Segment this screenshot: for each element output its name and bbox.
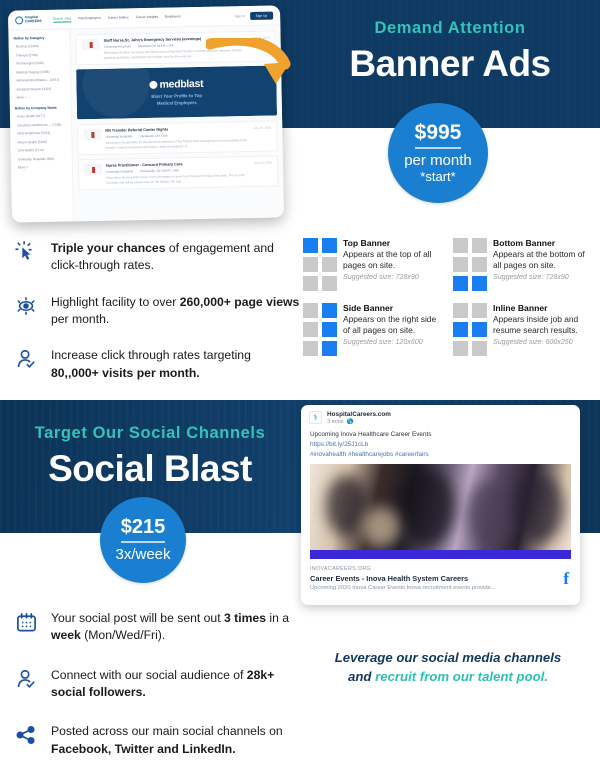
benefit-text-before: Increase click through rates targeting <box>51 348 251 362</box>
mock-facet-item[interactable]: Inova Health (9177) <box>17 114 66 119</box>
benefit-item: Highlight facility to over 260,000+ page… <box>14 294 300 329</box>
social-tagline: Leverage our social media channels and r… <box>305 648 591 686</box>
globe-icon: 🌎 <box>346 419 353 425</box>
mock-facet-item[interactable]: HCA Healthcare (5514) <box>17 131 66 136</box>
fb-post-header: ⚕ HospitalCareers.com 3 mins 🌎 <box>301 405 580 425</box>
banner-price-amount: $995 <box>415 121 462 149</box>
grid-cell <box>322 322 337 337</box>
calendar-icon <box>14 610 38 634</box>
mock-facet-item[interactable]: Technologist (1590) <box>16 61 65 66</box>
social-headline: Social Blast <box>48 448 252 490</box>
mock-facet-item[interactable]: LCA Health (7719) <box>18 148 67 153</box>
mock-facet-more[interactable]: More + <box>17 95 66 100</box>
social-price-frequency: 3x/week <box>115 547 170 564</box>
social-price-amount: $215 <box>121 516 166 543</box>
grid-cell <box>322 341 337 356</box>
mock-job-description: Description Responsible for the personne… <box>106 138 250 150</box>
benefit-bold-mid: Facebook, Twitter and LinkedIn. <box>51 742 236 756</box>
benefit-bold-mid: 3 times <box>224 611 266 625</box>
fb-copy-link[interactable]: https://bit.ly/25J1cLb <box>310 440 571 450</box>
grid-cell <box>453 303 468 318</box>
benefit-text: Posted across our main social channels o… <box>51 723 306 758</box>
mock-ad-brand-name: medblast <box>159 78 203 91</box>
mock-sidebar-heading-category: Refine by Category <box>13 36 64 41</box>
mock-nav-item-career-advice[interactable]: Career Advice <box>108 15 129 21</box>
mock-logo-line2: CAREERS <box>25 19 42 23</box>
tagline-highlight: recruit from our talent pool. <box>375 669 548 684</box>
mock-facet-item[interactable]: Medical Imaging (1598) <box>16 69 65 74</box>
banner-type-side: Side Banner Appears on the right side of… <box>303 303 445 356</box>
benefit-bold-mid: 260,000+ page views <box>180 295 300 309</box>
user-target-icon <box>14 667 38 690</box>
banner-type-size: Suggested size: 728x90 <box>343 273 445 281</box>
fb-link-description: Upcoming 2020 Inova Career Events Inova … <box>310 585 557 591</box>
grid-cell <box>303 257 318 272</box>
fb-post-copy: Upcoming Inova Healthcare Career Events … <box>301 425 580 464</box>
benefit-text-mid: in a <box>266 611 289 625</box>
banner-type-name: Bottom Banner <box>493 238 595 248</box>
fb-copy-headline: Upcoming Inova Healthcare Career Events <box>310 430 571 440</box>
benefit-item: Connect with our social audience of 28k+… <box>14 667 306 702</box>
banner-price-note: *start* <box>420 170 455 184</box>
benefit-text-before: Your social post will be sent out <box>51 611 224 625</box>
mock-sidebar: Refine by Category Nursing (12990) Thera… <box>8 29 74 222</box>
fb-link-title[interactable]: Career Events - Inova Health System Care… <box>310 574 557 583</box>
grid-cell <box>303 303 318 318</box>
grid-cell <box>303 276 318 291</box>
grid-cell <box>472 238 487 253</box>
banner-ads-section: Demand Attention Banner Ads $995 per mon… <box>0 0 600 400</box>
fb-copy-hashtags[interactable]: #inovahealth #healthcarejobs #careerfair… <box>310 450 571 460</box>
mock-job-date: July 20, 2020 <box>253 126 271 147</box>
hospitalcareers-avatar-icon: ⚕ <box>309 411 322 424</box>
banner-price-period: per month <box>404 153 472 170</box>
mock-facet-item[interactable]: Therapy (2796) <box>16 52 65 57</box>
mock-logo-icon <box>15 16 23 24</box>
share-nodes-icon <box>14 723 38 746</box>
tagline-line-1: Leverage our social media channels <box>305 648 591 667</box>
mock-job-description: Description Nursing that's best: You're … <box>106 173 250 185</box>
grid-cell <box>453 276 468 291</box>
benefit-item: Increase click through rates targeting 8… <box>14 347 300 382</box>
benefit-text: Connect with our social audience of 28k+… <box>51 667 306 702</box>
mock-nav-item-employers[interactable]: Employers <box>165 14 181 20</box>
banner-type-desc: Appears at the bottom of all pages on si… <box>493 249 595 271</box>
user-target-icon <box>14 347 38 370</box>
mock-facet-item[interactable]: Nursing (12990) <box>16 44 65 49</box>
benefit-text: Increase click through rates targeting 8… <box>51 347 300 382</box>
grid-cell <box>322 257 337 272</box>
banner-type-size: Suggested size: 120x600 <box>343 338 445 346</box>
grid-cell <box>453 238 468 253</box>
tagline-plain: and <box>348 669 375 684</box>
grid-cell <box>303 341 318 356</box>
benefit-bold-mid2: week <box>51 628 81 642</box>
mock-sign-in-link[interactable]: Sign In <box>234 14 244 18</box>
grid-cell <box>472 257 487 272</box>
banner-type-name: Side Banner <box>343 303 445 313</box>
benefit-text: Highlight facility to over 260,000+ page… <box>51 294 300 329</box>
fb-photo-bottom-bar <box>310 550 571 559</box>
mock-nav-item-find-employers[interactable]: Find Employers <box>78 15 101 21</box>
benefit-text-before: Highlight facility to over <box>51 295 180 309</box>
mock-job-location: Cleveland, OH, USA <box>140 134 168 139</box>
banner-type-desc: Appears on the right side of all pages o… <box>343 314 445 336</box>
fb-link-preview[interactable]: INOVACAREERS.ORG Career Events - Inova H… <box>301 559 580 599</box>
mock-job-employer: University Hospitals <box>104 44 131 49</box>
social-benefits-list: Your social post will be sent out 3 time… <box>14 610 306 780</box>
grid-cell <box>303 238 318 253</box>
banner-headline: Banner Ads <box>349 43 550 85</box>
fb-post-meta: 3 mins 🌎 <box>327 419 391 425</box>
banner-types-grid: Top Banner Appears at the top of all pag… <box>303 238 595 356</box>
grid-cell <box>322 276 337 291</box>
mock-nav-item-career-insights[interactable]: Career Insights <box>136 14 158 20</box>
banner-type-bottom: Bottom Banner Appears at the bottom of a… <box>453 238 595 291</box>
mock-nav-links: Search Jobs Find Employers Career Advice… <box>53 14 181 22</box>
benefit-text-after: per month. <box>51 312 109 326</box>
mock-job-location: Painesville, OH 44077, USA <box>140 169 179 174</box>
mock-employer-logo-icon <box>84 164 102 175</box>
grid-cell <box>322 303 337 318</box>
benefit-text-before: Connect with our social audience of <box>51 668 247 682</box>
mock-sidebar-heading-company: Refine by Company Name <box>15 106 66 111</box>
eye-view-icon <box>14 294 38 317</box>
banner-type-diagram <box>453 238 487 291</box>
cursor-click-icon <box>14 240 38 263</box>
social-price-badge: $215 3x/week <box>100 497 186 583</box>
mock-job-location: Westlake,OH 44145, USA <box>138 43 174 48</box>
benefit-text: Your social post will be sent out 3 time… <box>51 610 306 645</box>
mock-facet-item[interactable]: Atrium Health (5120) <box>17 139 66 144</box>
grid-cell <box>472 341 487 356</box>
grid-cell <box>453 322 468 337</box>
orange-arrow-icon <box>206 38 292 88</box>
mock-job-card[interactable]: Nurse Practitioner - Concord Primary Car… <box>78 156 279 191</box>
fb-post-photo <box>310 464 571 559</box>
benefit-text-after: (Mon/Wed/Fri). <box>81 628 165 642</box>
banner-type-inline: Inline Banner Appears inside job and res… <box>453 303 595 356</box>
banner-type-size: Suggested size: 600x250 <box>493 338 595 346</box>
banner-type-diagram <box>303 303 337 356</box>
tagline-line-2: and recruit from our talent pool. <box>305 667 591 686</box>
benefit-text-before: Posted across our main social channels o… <box>51 724 283 738</box>
banner-type-diagram <box>303 238 337 291</box>
banner-type-name: Inline Banner <box>493 303 595 313</box>
banner-eyebrow: Demand Attention <box>374 19 525 38</box>
fb-page-name: HospitalCareers.com <box>327 411 391 418</box>
mock-nav-right: Sign In Sign Up <box>234 11 273 20</box>
grid-cell <box>453 257 468 272</box>
benefit-bold-mid: 80,,000+ visits per month. <box>51 366 200 380</box>
grid-cell <box>453 341 468 356</box>
banner-type-name: Top Banner <box>343 238 445 248</box>
mock-facet-item[interactable]: University Hospitals (891) <box>18 156 67 161</box>
mock-job-employer: University Hospitals <box>105 134 132 139</box>
mock-facet-item[interactable]: Assistant Support (4114) <box>16 86 65 91</box>
mock-job-date: July 20, 2020 <box>254 161 272 182</box>
facebook-post-card: ⚕ HospitalCareers.com 3 mins 🌎 Upcoming … <box>301 405 580 605</box>
facebook-icon: f <box>563 570 571 587</box>
grid-cell <box>472 322 487 337</box>
grid-cell <box>472 303 487 318</box>
mock-sign-up-button[interactable]: Sign Up <box>250 11 273 19</box>
mock-facet-item[interactable]: Carolinas HealthCare ... (7180) <box>17 122 66 127</box>
banner-price-badge: $995 per month *start* <box>388 103 488 203</box>
mock-job-card[interactable]: RN Transfer Referral Center Nights Unive… <box>77 121 278 156</box>
banner-type-top: Top Banner Appears at the top of all pag… <box>303 238 445 291</box>
mock-employer-logo-icon <box>82 39 100 50</box>
grid-cell <box>322 238 337 253</box>
mock-employer-logo-icon <box>83 129 101 140</box>
mock-nav-item-search-jobs[interactable]: Search Jobs <box>53 16 71 22</box>
grid-cell <box>472 276 487 291</box>
benefit-bold-lead: Triple your chances <box>51 241 165 255</box>
benefit-item: Triple your chances of engagement and cl… <box>14 240 300 275</box>
benefit-text: Triple your chances of engagement and cl… <box>51 240 300 275</box>
banner-type-diagram <box>453 303 487 356</box>
banner-type-desc: Appears at the top of all pages on site. <box>343 249 445 271</box>
benefit-item: Your social post will be sent out 3 time… <box>14 610 306 645</box>
grid-cell <box>303 322 318 337</box>
mock-logo: hospital CAREERS <box>15 15 42 24</box>
benefit-item: Posted across our main social channels o… <box>14 723 306 758</box>
banner-type-size: Suggested size: 728x90 <box>493 273 595 281</box>
social-eyebrow: Target Our Social Channels <box>35 424 266 443</box>
mock-job-employer: University Hospitals <box>106 169 133 174</box>
mock-facet-item[interactable]: Administration/Opera... (1451) <box>16 78 65 83</box>
fb-link-domain: INOVACAREERS.ORG <box>310 566 557 572</box>
fb-timestamp: 3 mins <box>327 419 343 425</box>
banner-benefits-list: Triple your chances of engagement and cl… <box>14 240 300 401</box>
banner-type-desc: Appears inside job and resume search res… <box>493 314 595 336</box>
mock-facet-more[interactable]: More + <box>18 165 67 170</box>
medblast-logo-icon <box>150 81 158 89</box>
